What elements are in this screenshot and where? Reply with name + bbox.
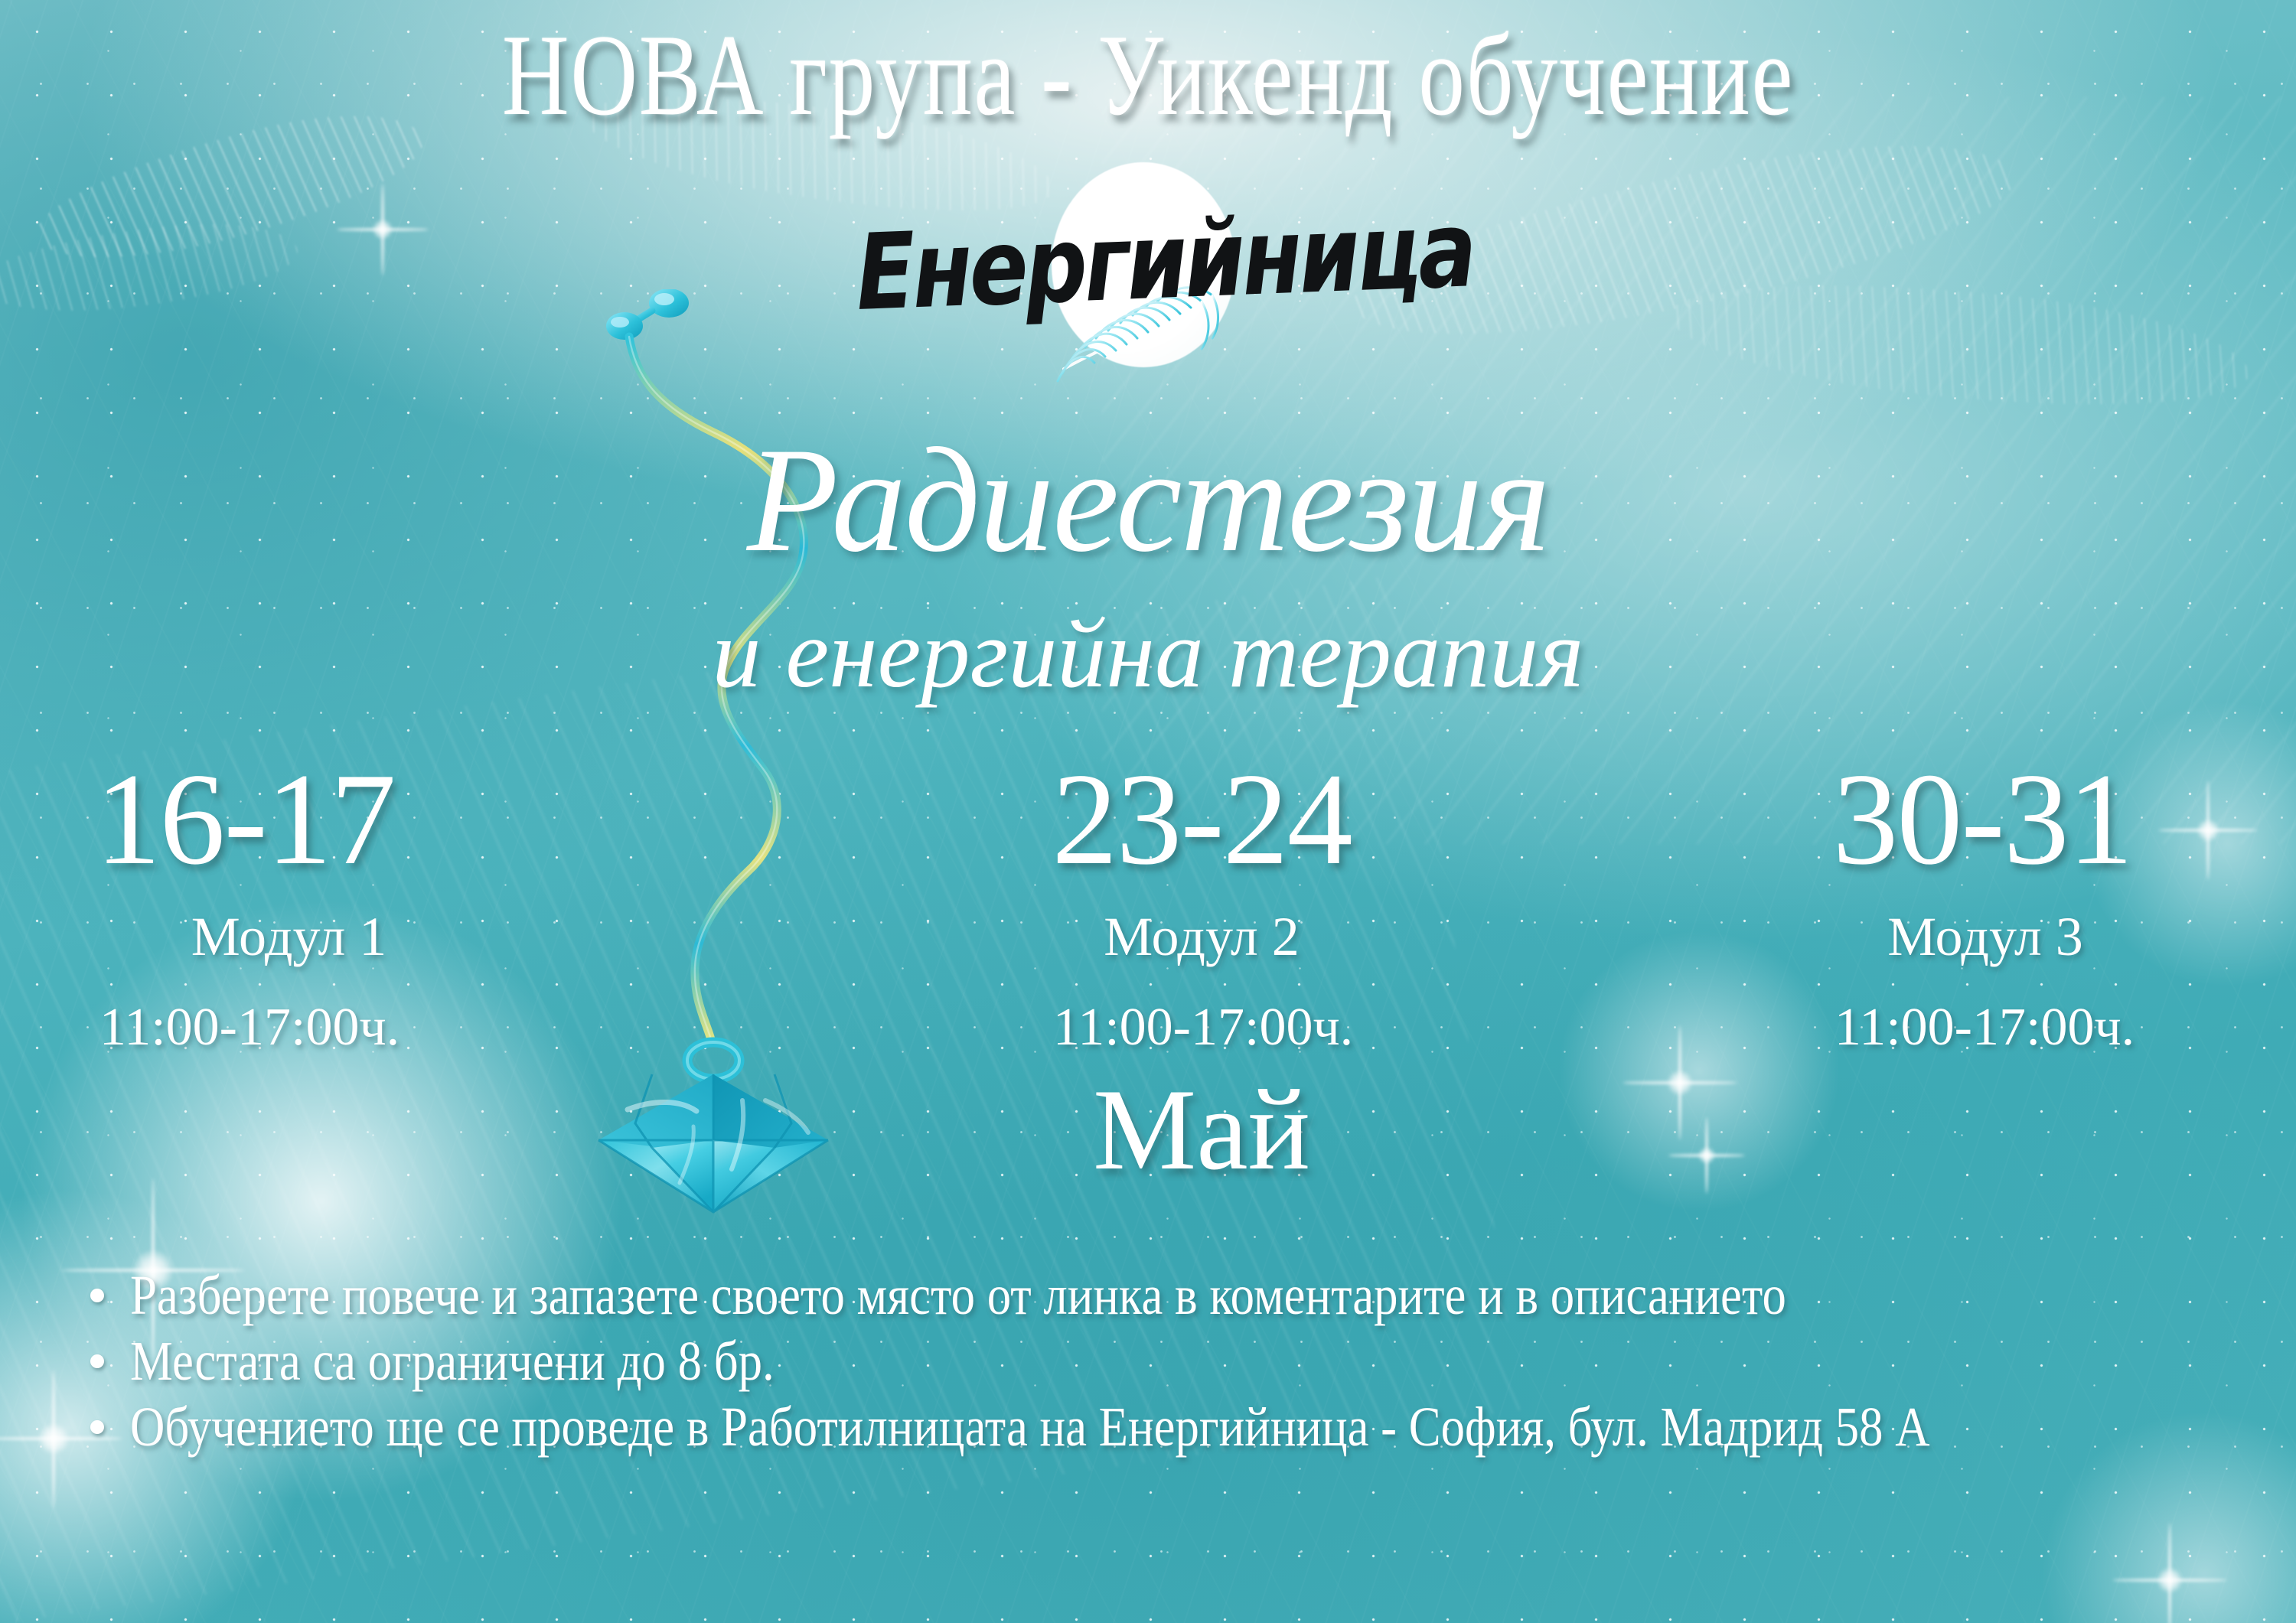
info-bullet-list: Разберете повече и запазете своето място…	[90, 1264, 2233, 1461]
module-time: 11:00-17:00ч.	[1737, 996, 2227, 1060]
module-dates: 23-24	[911, 754, 1492, 885]
bullet-dot-icon	[90, 1289, 104, 1302]
list-item: Местата са ограничени до 8 бр.	[90, 1330, 2233, 1393]
month-label: Май	[911, 1071, 1492, 1188]
module-time: 11:00-17:00ч.	[31, 996, 459, 1060]
list-item-text: Местата са ограничени до 8 бр.	[130, 1330, 1939, 1393]
module-dates: 30-31	[1737, 754, 2227, 885]
brand-logo: Енергийница	[958, 162, 1341, 392]
module-column-2: 23-24 Модул 2 11:00-17:00ч.	[911, 754, 1492, 1060]
list-item: Обучението ще се проведе в Работилницата…	[90, 1396, 2233, 1458]
page-title: НОВА група - Уикенд обучение	[230, 17, 2066, 133]
list-item: Разберете повече и запазете своето място…	[90, 1264, 2233, 1327]
module-label: Модул 2	[911, 904, 1492, 970]
hero-title: Радиестезия	[0, 425, 2296, 575]
module-label: Модул 1	[31, 904, 459, 970]
bullet-dot-icon	[90, 1354, 104, 1368]
module-dates: 16-17	[31, 754, 459, 885]
hero-subtitle: и енергийна терапия	[0, 605, 2296, 702]
bullet-dot-icon	[90, 1420, 104, 1434]
list-item-text: Разберете повече и запазете своето място…	[130, 1264, 1939, 1327]
poster-canvas: НОВА група - Уикенд обучение	[0, 0, 2296, 1623]
module-label: Модул 3	[1737, 904, 2227, 970]
module-column-1: 16-17 Модул 1 11:00-17:00ч.	[31, 754, 459, 1060]
logo-wordmark: Енергийница	[832, 187, 1498, 334]
module-column-3: 30-31 Модул 3 11:00-17:00ч.	[1737, 754, 2227, 1060]
module-time: 11:00-17:00ч.	[911, 996, 1492, 1060]
list-item-text: Обучението ще се проведе в Работилницата…	[130, 1396, 1939, 1458]
